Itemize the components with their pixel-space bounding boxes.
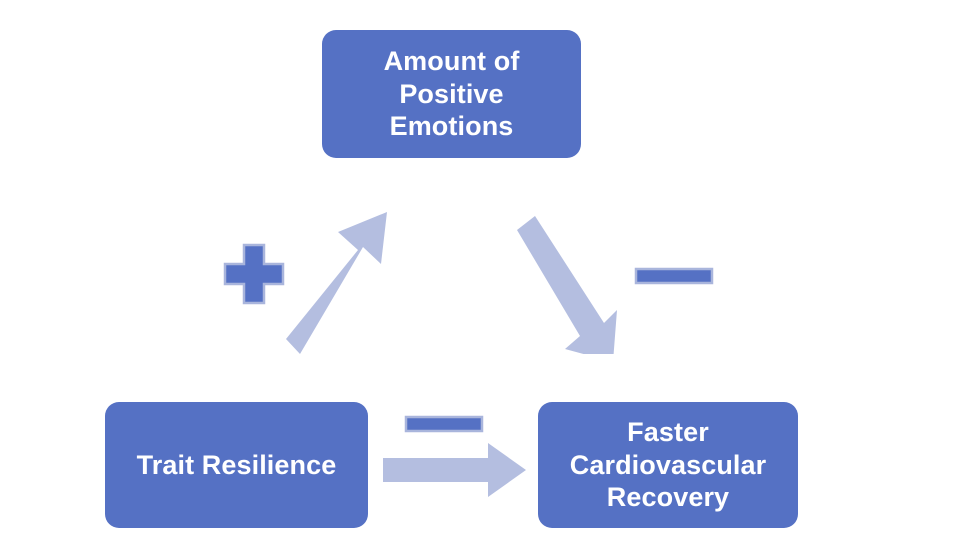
- plus-sign-resilience-to-emotions-icon: [221, 241, 287, 307]
- minus-sign-emotions-to-recovery-icon: [632, 264, 716, 288]
- node-cardiovascular-recovery[interactable]: Faster Cardiovascular Recovery: [538, 402, 798, 528]
- node-positive-emotions[interactable]: Amount of Positive Emotions: [322, 30, 581, 158]
- node-cardiovascular-recovery-label: Faster Cardiovascular Recovery: [538, 416, 798, 515]
- diagram-canvas: Amount of Positive Emotions Trait Resili…: [0, 0, 975, 557]
- node-trait-resilience-label: Trait Resilience: [105, 449, 368, 482]
- node-trait-resilience[interactable]: Trait Resilience: [105, 402, 368, 528]
- minus-sign-resilience-to-recovery-icon: [402, 412, 486, 436]
- arrow-resilience-to-recovery-icon: [378, 443, 530, 497]
- node-positive-emotions-label: Amount of Positive Emotions: [322, 45, 581, 144]
- arrow-emotions-to-recovery-icon: [503, 202, 619, 354]
- arrow-resilience-to-emotions-icon: [286, 206, 402, 358]
